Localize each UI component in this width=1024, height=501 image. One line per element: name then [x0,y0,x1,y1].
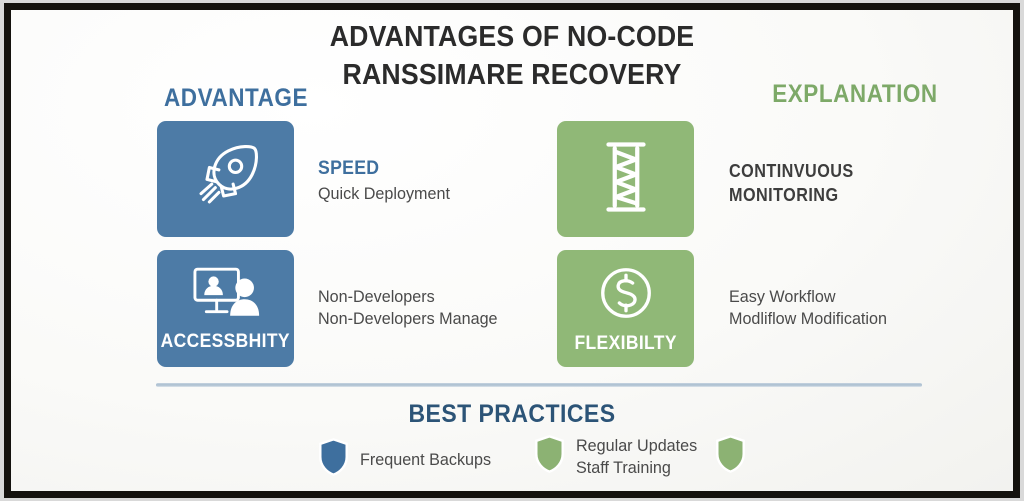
section-divider [156,383,922,387]
card-accessibility[interactable]: ACCESSBHITY [157,250,294,367]
best-practice-item-1[interactable]: Frequent Backups [317,437,498,482]
row-sub-accessibility-line-2: Non-Developers Manage [318,308,498,330]
row-sub-flexibility-line-1: Easy Workflow [729,286,887,308]
best-practices-heading: BEST PRACTICES [51,400,973,429]
best-practice-1-line-1: Frequent Backups [360,450,491,469]
row-sub-accessibility-line-1: Non-Developers [318,286,498,308]
row-text-accessibility: Non-Developers Non-Developers Manage [318,286,507,330]
row-text-monitoring: CONTINVUOUS MONITORING [729,160,854,208]
infographic-canvas: ADVANTAGES OF NO-CODE RANSSIMARE RECOVER… [11,10,1013,491]
row-caps-monitoring-line-1: CONTINVUOUS [729,160,854,184]
rocket-icon [188,139,264,220]
column-header-explanation: EXPLANATION [772,80,938,109]
image-frame: ADVANTAGES OF NO-CODE RANSSIMARE RECOVER… [4,3,1020,498]
card-flexibility[interactable]: FLEXIBILTY [557,250,694,367]
row-sub-speed-line-1: Quick Deployment [318,183,450,205]
shield-icon [533,434,566,479]
card-label-flexibility: FLEXIBILTY [574,333,676,355]
spring-coil-icon [590,137,662,222]
best-practice-item-3[interactable] [714,434,747,479]
best-practice-2-line-1: Regular Updates [576,435,697,457]
card-monitoring[interactable] [557,121,694,237]
best-practice-label-2: Regular Updates Staff Training [576,435,697,479]
shield-icon [317,437,350,482]
row-sub-flexibility-line-2: Modliflow Modification [729,308,887,330]
card-speed[interactable] [157,121,294,237]
title-line-1: ADVANTAGES OF NO-CODE [51,18,973,56]
infographic-screenshot: ADVANTAGES OF NO-CODE RANSSIMARE RECOVER… [0,0,1024,501]
card-label-accessibility: ACCESSBHITY [161,331,290,353]
row-text-speed: SPEED Quick Deployment [318,158,457,205]
best-practice-item-2[interactable]: Regular Updates Staff Training [533,434,704,479]
monitor-person-icon [188,264,264,327]
shield-icon [714,434,747,479]
row-caps-monitoring-line-2: MONITORING [729,184,854,208]
dollar-circle-icon [595,262,657,329]
row-title-speed: SPEED [318,158,447,180]
column-header-advantage: ADVANTAGE [164,84,308,113]
best-practice-2-line-2: Staff Training [576,457,697,479]
row-text-flexibility: Easy Workflow Modliflow Modification [729,286,895,330]
best-practice-label-1: Frequent Backups [360,449,491,471]
